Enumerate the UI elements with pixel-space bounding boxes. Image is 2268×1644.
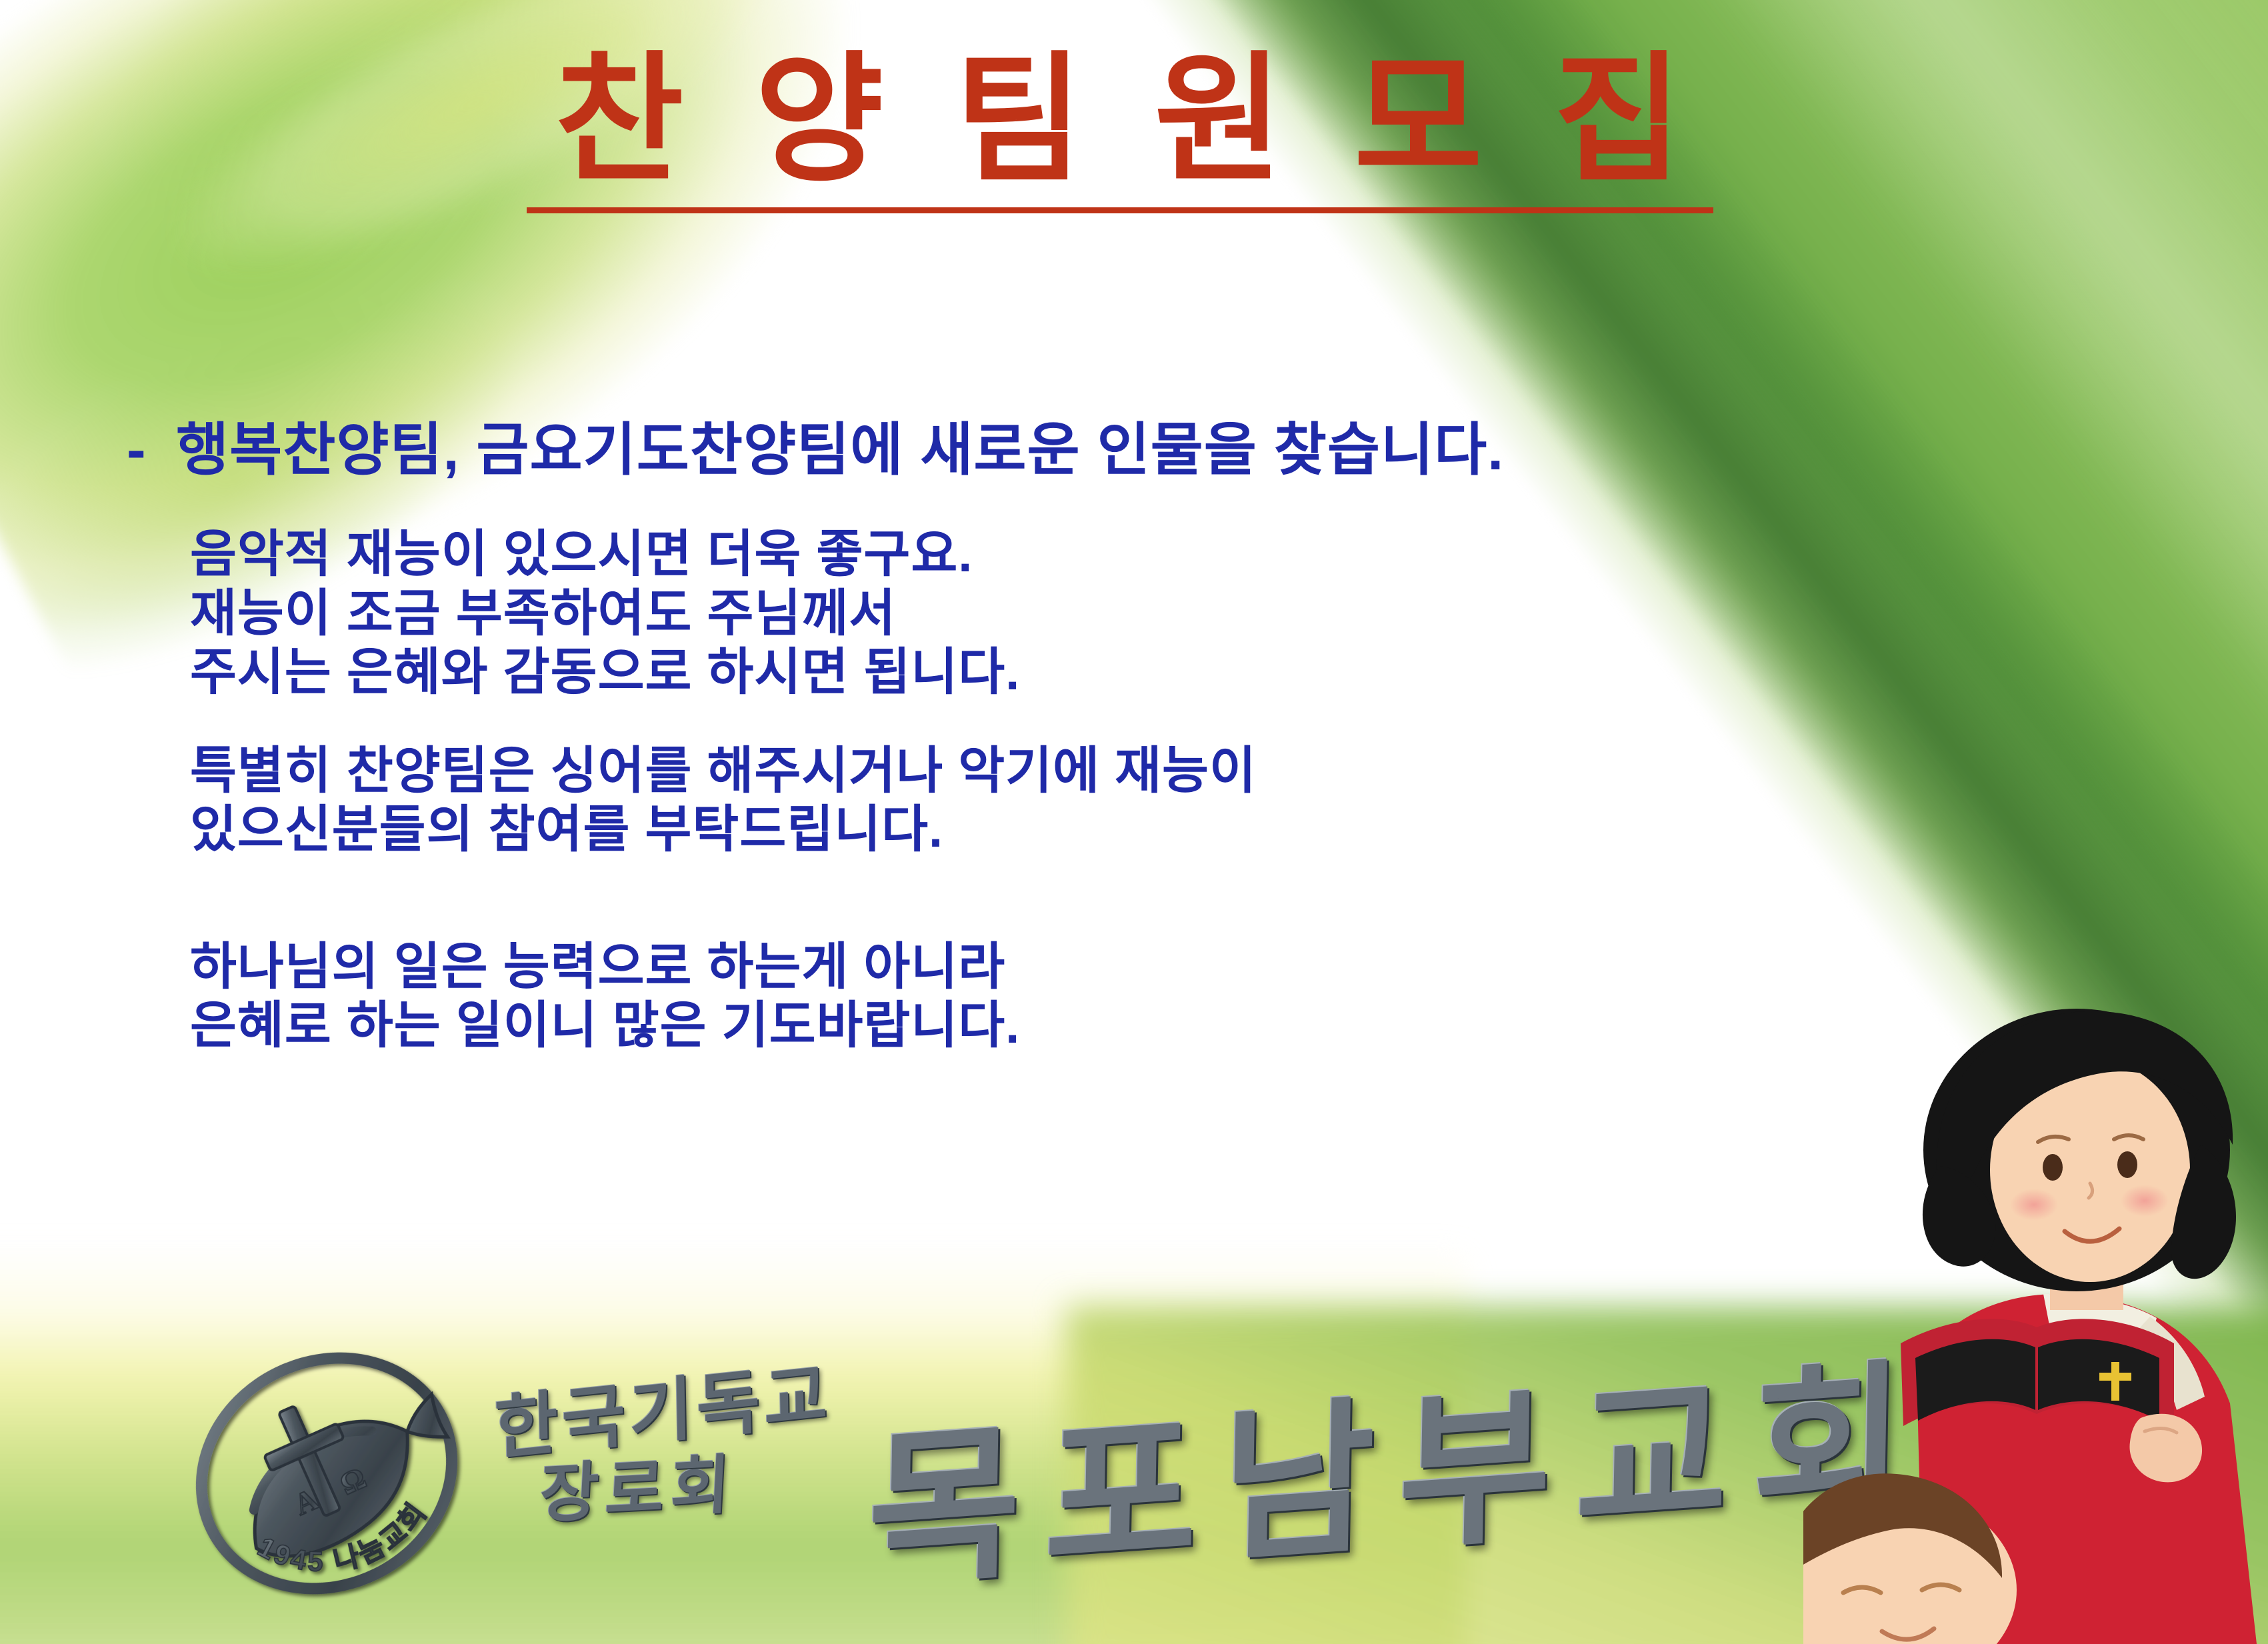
- bullet-marker: -: [127, 417, 176, 484]
- paragraph-one-line-2: 재능이 조금 부족하여도 주님께서: [190, 585, 1927, 643]
- woman-cheek-right: [2121, 1185, 2169, 1217]
- paragraph-one-line-3: 주시는 은혜와 감동으로 하시면 됩니다.: [190, 643, 1927, 702]
- paragraph-two-line-1: 특별히 찬양팀은 싱어를 해주시거나 악기에 재능이: [190, 742, 1927, 801]
- church-name: 목포남부교회: [866, 1303, 1931, 1619]
- paragraph-three: 하나님의 일은 능력으로 하는게 아니라 은혜로 하는 일이니 많은 기도바랍니…: [190, 938, 1927, 1055]
- paragraph-one: 음악적 재능이 있으시면 더욱 좋구요. 재능이 조금 부족하여도 주님께서 주…: [190, 525, 1927, 701]
- title-block: 찬 양 팀 원 모 집: [527, 41, 1727, 213]
- bullet-line: - 행복찬양팀, 금요기도찬양팀에 새로운 인물을 찾습니다.: [127, 417, 1927, 484]
- body-block: - 행복찬양팀, 금요기도찬양팀에 새로운 인물을 찾습니다. 음악적 재능이 …: [127, 417, 1927, 1056]
- paragraph-one-line-1: 음악적 재능이 있으시면 더욱 좋구요.: [190, 525, 1927, 584]
- woman-cheek-left: [2010, 1189, 2058, 1221]
- paragraph-three-line-1: 하나님의 일은 능력으로 하는게 아니라: [190, 938, 1927, 997]
- bullet-text: 행복찬양팀, 금요기도찬양팀에 새로운 인물을 찾습니다.: [176, 417, 1504, 484]
- illustration-woman-and-child: [1803, 970, 2268, 1644]
- church-emblem-logo: A Ω 1945 나눔교회: [163, 1320, 490, 1626]
- emblem-ring-group: A Ω 1945 나눔교회: [149, 1305, 503, 1641]
- denomination-line-2: 장로회: [538, 1432, 739, 1535]
- paragraph-two: 특별히 찬양팀은 싱어를 해주시거나 악기에 재능이 있으신분들의 참여를 부탁…: [190, 742, 1927, 859]
- paragraph-two-line-2: 있으신분들의 참여를 부탁드립니다.: [190, 801, 1927, 859]
- title-underline: [527, 207, 1713, 213]
- paragraph-three-line-2: 은혜로 하는 일이니 많은 기도바랍니다.: [190, 997, 1927, 1055]
- woman-eye-left: [2043, 1154, 2063, 1181]
- page-title: 찬 양 팀 원 모 집: [527, 41, 1727, 198]
- slide-canvas: 찬 양 팀 원 모 집 - 행복찬양팀, 금요기도찬양팀에 새로운 인물을 찾습…: [0, 0, 2268, 1644]
- woman-eye-right: [2117, 1151, 2137, 1178]
